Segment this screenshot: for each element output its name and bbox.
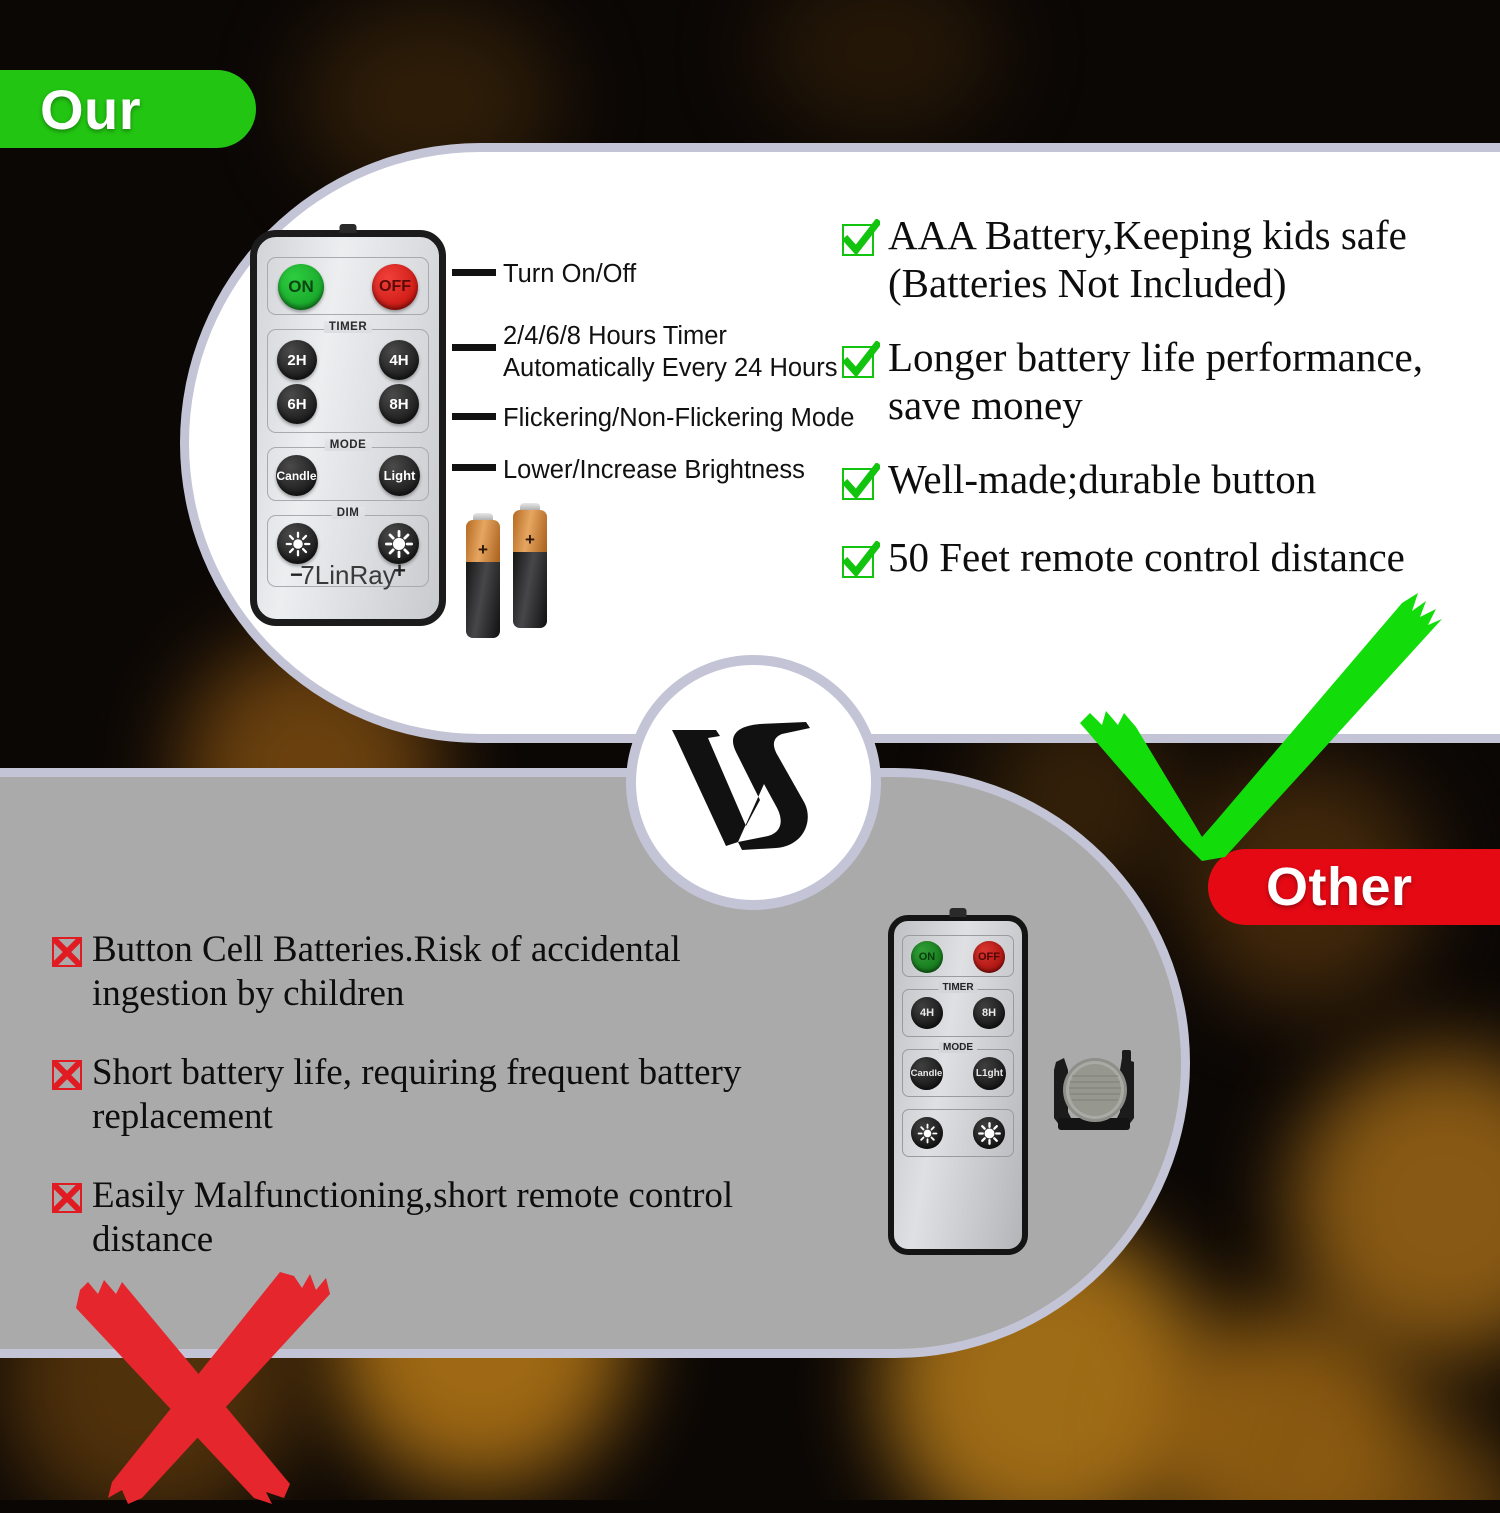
list-item-label: Well-made;durable button — [888, 456, 1316, 504]
battery-body — [513, 552, 547, 628]
battery-plus-label: + — [466, 540, 500, 560]
off-button[interactable]: OFF — [372, 264, 418, 310]
brightness-icon — [285, 531, 311, 557]
other-power-group: ON OFF — [902, 935, 1014, 977]
other-on-button[interactable]: ON — [911, 941, 943, 973]
list-item: AAA Battery,Keeping kids safe (Batteries… — [840, 212, 1490, 308]
timer-8h-button[interactable]: 8H — [379, 384, 419, 424]
green-check-box-icon — [840, 341, 880, 386]
annotation-timer: 2/4/6/8 Hours Timer Automatically Every … — [503, 320, 837, 384]
candle-mode-button[interactable]: Candle — [276, 455, 317, 496]
other-mode-group: MODE Candle L1ght — [902, 1049, 1014, 1097]
brightness-icon — [978, 1122, 1001, 1145]
list-item: Short battery life, requiring frequent b… — [50, 1051, 790, 1140]
dim-group-label: DIM — [332, 507, 365, 519]
other-off-button[interactable]: OFF — [973, 941, 1005, 973]
light-mode-button[interactable]: Light — [379, 455, 420, 496]
red-cross-box-icon — [50, 1181, 84, 1220]
other-dim-up-button[interactable] — [973, 1117, 1005, 1149]
list-item: 50 Feet remote control distance — [840, 534, 1490, 586]
list-item-label: AAA Battery,Keeping kids safe (Batteries… — [888, 212, 1490, 308]
ir-emitter-icon — [950, 908, 967, 917]
list-item: Button Cell Batteries.Risk of accidental… — [50, 928, 790, 1017]
annotation-dim: Lower/Increase Brightness — [503, 454, 805, 486]
list-item-label: Short battery life, requiring frequent b… — [92, 1051, 790, 1140]
brand-name: 7LinRay — [257, 560, 439, 591]
ir-emitter-icon — [340, 224, 357, 233]
our-badge: Our — [0, 70, 256, 148]
battery-body — [466, 562, 500, 638]
list-item-label: Longer battery life performance, save mo… — [888, 334, 1490, 430]
vs-badge — [626, 655, 881, 910]
aaa-battery: + — [513, 510, 547, 628]
big-green-check-icon — [1050, 585, 1470, 870]
battery-positive-end: + — [513, 510, 547, 554]
timer-2h-button[interactable]: 2H — [277, 340, 317, 380]
green-check-box-icon — [840, 541, 880, 586]
annotation-power: Turn On/Off — [503, 258, 636, 290]
other-timer-4h-button[interactable]: 4H — [911, 997, 943, 1029]
other-dim-group — [902, 1109, 1014, 1157]
brightness-icon — [917, 1123, 938, 1144]
other-timer-group: TIMER 4H 8H — [902, 989, 1014, 1037]
aaa-battery: + — [466, 520, 500, 638]
other-candle-button[interactable]: Candle — [910, 1057, 943, 1090]
big-red-cross-icon — [58, 1248, 368, 1513]
red-cross-box-icon — [50, 935, 84, 974]
benefits-list: AAA Battery,Keeping kids safe (Batteries… — [840, 212, 1490, 586]
other-timer-label: TIMER — [938, 982, 977, 993]
power-button-group: ON OFF — [267, 257, 429, 315]
annotation-mode: Flickering/Non-Flickering Mode — [503, 402, 854, 434]
other-mode-label: MODE — [939, 1042, 977, 1053]
leader-line-dim — [452, 464, 496, 471]
our-remote: ON OFF TIMER 2H 4H 6H 8H MODE Candle Lig… — [250, 230, 446, 626]
leader-line-timer — [452, 344, 496, 351]
green-check-box-icon — [840, 219, 880, 264]
list-item-label: Button Cell Batteries.Risk of accidental… — [92, 928, 790, 1017]
vs-logo-icon — [664, 708, 844, 858]
annotation-timer-line1: 2/4/6/8 Hours Timer — [503, 320, 837, 352]
other-light-button[interactable]: L1ght — [973, 1057, 1006, 1090]
battery-plus-label: + — [513, 530, 547, 550]
other-remote: ON OFF TIMER 4H 8H MODE Candle L1ght — [888, 915, 1028, 1255]
coin-cell-battery — [1048, 1040, 1144, 1140]
list-item: Longer battery life performance, save mo… — [840, 334, 1490, 430]
mode-group-label: MODE — [325, 439, 372, 451]
other-dim-down-button[interactable] — [911, 1117, 943, 1149]
timer-4h-button[interactable]: 4H — [379, 340, 419, 380]
leader-line-mode — [452, 413, 496, 420]
green-check-box-icon — [840, 463, 880, 508]
list-item-label: 50 Feet remote control distance — [888, 534, 1405, 582]
drawbacks-list: Button Cell Batteries.Risk of accidental… — [50, 928, 790, 1262]
timer-6h-button[interactable]: 6H — [277, 384, 317, 424]
dim-down-button[interactable] — [277, 523, 318, 564]
other-timer-8h-button[interactable]: 8H — [973, 997, 1005, 1029]
mode-button-group: MODE Candle Light — [267, 447, 429, 501]
annotation-timer-line2: Automatically Every 24 Hours — [503, 352, 837, 384]
timer-button-group: TIMER 2H 4H 6H 8H — [267, 329, 429, 433]
list-item: Well-made;durable button — [840, 456, 1490, 508]
red-cross-box-icon — [50, 1058, 84, 1097]
on-button[interactable]: ON — [278, 264, 324, 310]
brightness-icon — [385, 530, 413, 558]
battery-positive-end: + — [466, 520, 500, 564]
timer-group-label: TIMER — [324, 321, 372, 333]
leader-line-power — [452, 269, 496, 276]
